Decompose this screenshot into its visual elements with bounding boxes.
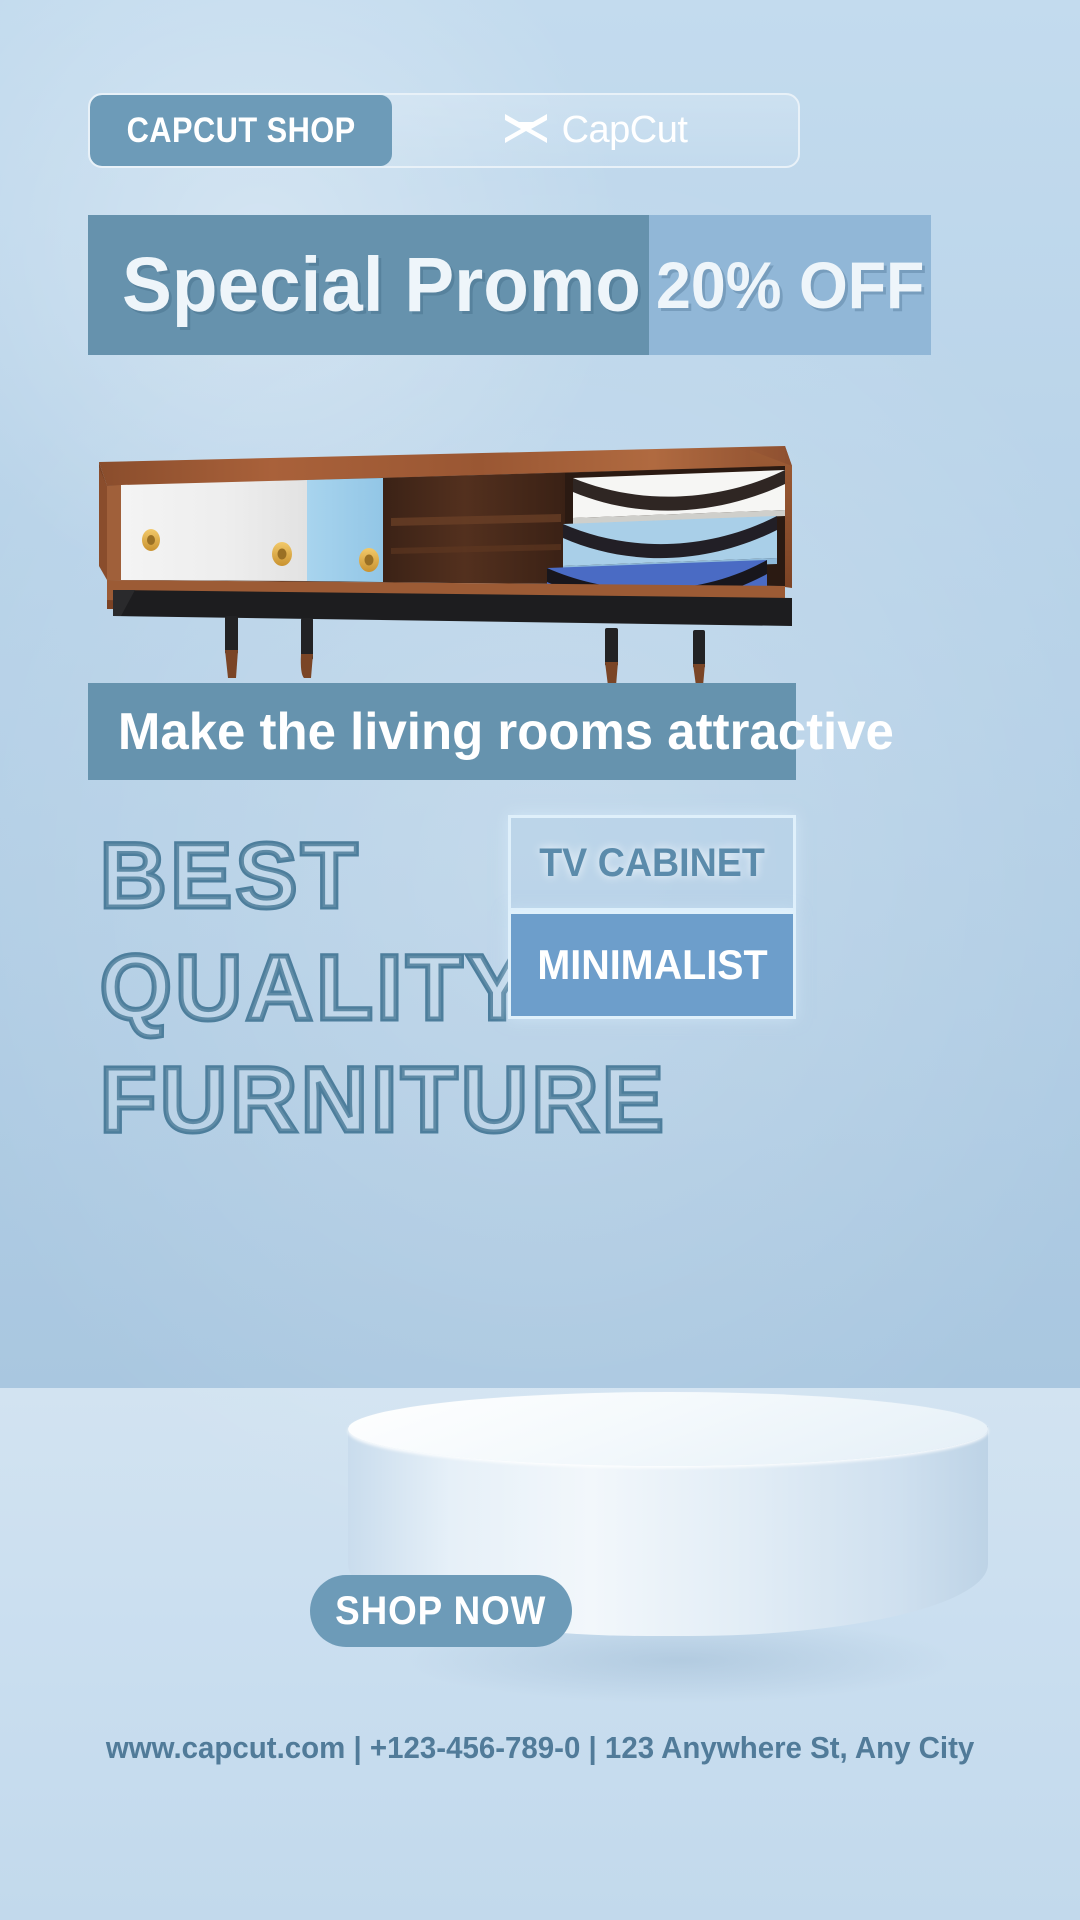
podium-top-surface xyxy=(348,1392,988,1466)
shop-now-button[interactable]: SHOP NOW xyxy=(310,1575,572,1647)
poster-canvas: CAPCUT SHOP CapCut Special Promo 20% OFF xyxy=(0,0,1080,1920)
tab-capcut-shop-label: CAPCUT SHOP xyxy=(126,111,355,151)
promo-left-panel: Special Promo xyxy=(88,215,649,355)
headline-text: Make the living rooms attractive xyxy=(118,706,894,758)
brand-lockup[interactable]: CapCut xyxy=(392,95,798,166)
tab-capcut-shop[interactable]: CAPCUT SHOP xyxy=(90,95,392,166)
promo-left-label: Special Promo xyxy=(122,247,641,324)
shop-now-label: SHOP NOW xyxy=(335,1589,546,1634)
headline-band: Make the living rooms attractive xyxy=(88,683,796,780)
tag-tv-cabinet[interactable]: TV CABINET xyxy=(508,815,796,911)
brand-name-label: CapCut xyxy=(562,109,688,152)
tag-minimalist[interactable]: MINIMALIST xyxy=(508,911,796,1019)
header-bar: CAPCUT SHOP CapCut xyxy=(88,93,800,168)
tag-minimalist-label: MINIMALIST xyxy=(537,941,767,989)
capcut-logo-icon xyxy=(503,111,549,150)
promo-discount-label: 20% OFF xyxy=(656,252,924,318)
footer: www.capcut.com | +123-456-789-0 | 123 An… xyxy=(0,1730,1080,1766)
tag-tv-cabinet-label: TV CABINET xyxy=(539,841,765,886)
footer-contact-text: www.capcut.com | +123-456-789-0 | 123 An… xyxy=(106,1730,974,1766)
promo-right-panel: 20% OFF xyxy=(649,215,931,355)
outline-word-3: FURNITURE xyxy=(100,1044,600,1156)
tag-stack: TV CABINET MINIMALIST xyxy=(508,815,796,1019)
promo-band: Special Promo 20% OFF xyxy=(88,215,796,355)
tv-cabinet-photo xyxy=(95,440,795,690)
